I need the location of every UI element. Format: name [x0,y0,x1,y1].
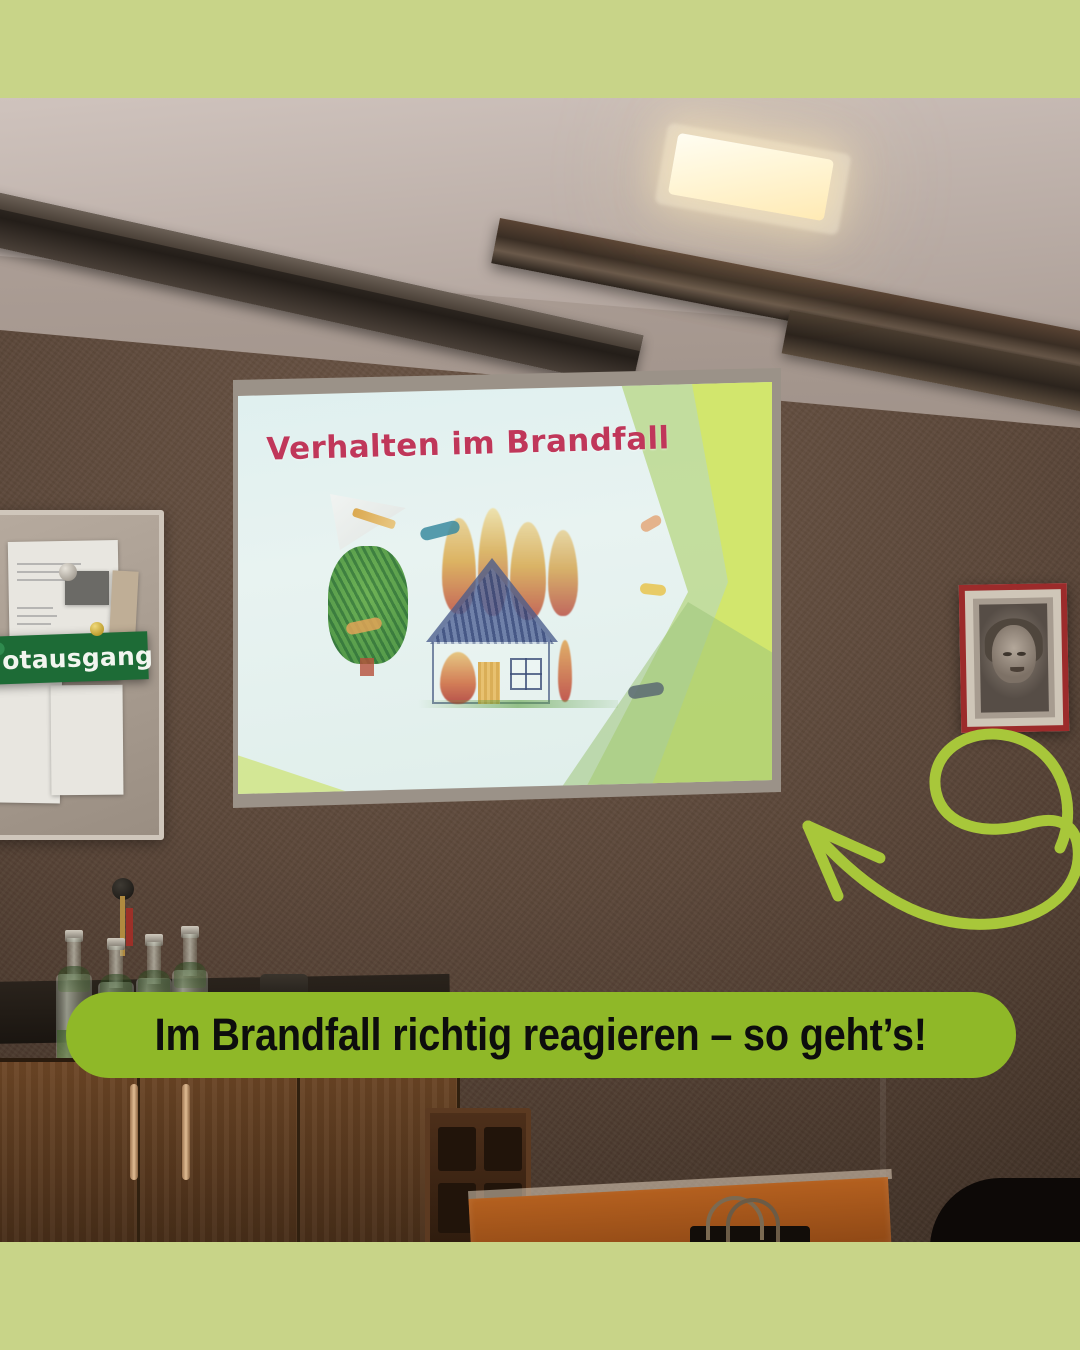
bottle-shoulder [174,962,206,988]
drawing-ground [418,700,618,708]
drawing-tree-trunk [360,658,374,676]
portrait-face [991,625,1036,684]
emergency-exit-label: Notausgang [0,641,153,676]
sign-pin-icon [90,622,104,636]
crayon-drawing [358,512,658,712]
drawing-flame-6 [558,640,572,702]
wall-hook-tag [126,908,133,946]
paper-text-line [17,579,67,581]
drawing-window-bar-v [525,658,527,690]
caption-banner: Im Brandfall richtig reagieren – so geht… [66,992,1016,1078]
board-paper-3 [51,685,124,796]
cabinet-door-1 [0,1062,140,1242]
slide-title: Verhalten im Brandfall [238,420,698,469]
poster-canvas: Verhalten im Brandfall [0,0,1080,1350]
cabinet-door-2 [140,1062,300,1242]
cabinet-handle-1 [130,1084,138,1180]
portrait-image [979,603,1049,712]
portrait-eye-right [1017,651,1026,655]
emergency-exit-sign: Notausgang [0,631,149,685]
drawing-house-door [478,662,500,704]
board-paper-4 [109,570,138,635]
portrait-mat [973,597,1055,718]
paper-text-line [17,623,51,625]
crate-slot [484,1127,522,1171]
bottle-shoulder [58,966,90,992]
caption-text: Im Brandfall richtig reagieren – so geht… [155,1009,927,1061]
paper-text-line [17,607,53,609]
paper-text-line [17,615,57,617]
wooden-cabinets [0,1058,460,1242]
pin-icon [59,563,77,581]
drawing-tree [328,546,408,664]
brand-band-bottom [0,1242,1080,1350]
crayon-yellow [639,583,666,597]
cabinet-handle-2 [182,1084,190,1180]
portrait-eye-left [1003,652,1012,656]
crate-slot [438,1127,476,1171]
crayon-peach [639,513,664,534]
portrait-mouth [1010,666,1024,671]
brand-band-top [0,0,1080,98]
slide-accent-shape-d [238,712,408,794]
framed-portrait [959,583,1070,733]
projected-slide: Verhalten im Brandfall [238,382,772,794]
